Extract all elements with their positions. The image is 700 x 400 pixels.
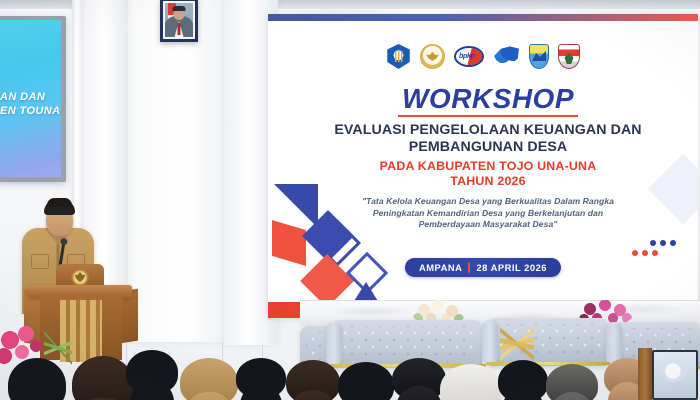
audience-head [498, 360, 548, 400]
audience-head [72, 356, 134, 400]
screen-text: AN DAN EN TOUNA [0, 90, 61, 118]
screen-text-line1: AN DAN [0, 90, 61, 104]
conference-photo-scene: AN DAN EN TOUNA [0, 0, 700, 400]
floor-monitor-screen [652, 350, 698, 400]
screen-text-line2: EN TOUNA [0, 104, 61, 118]
banner-quote: "Tata Kelola Keuangan Desa yang Berkuali… [296, 196, 680, 231]
decor-dot [642, 250, 648, 256]
decor-dot [632, 250, 638, 256]
led-screen-surface: AN DAN EN TOUNA [0, 20, 61, 177]
audience-head [236, 358, 286, 398]
framed-official-portrait [160, 0, 198, 42]
left-led-screen: AN DAN EN TOUNA [0, 16, 66, 182]
speaker-cap [47, 198, 72, 207]
banner-subtitle-line2: PEMBANGUNAN DESA [296, 139, 680, 156]
audience-head [546, 364, 598, 400]
portrait-cap [173, 6, 186, 11]
banner-headline-block: WORKSHOP EVALUASI PENGELOLAAN KEUANGAN D… [296, 84, 680, 231]
event-backdrop-banner: bpkp WORKSHOP EVALUASI PENGELOLAAN KEUAN… [268, 14, 698, 318]
banner-quote-line1: "Tata Kelola Keuangan Desa yang Berkuali… [296, 196, 680, 208]
banner-top-stripe [268, 14, 698, 21]
audience-foreground [0, 314, 700, 400]
event-date: 28 APRIL 2026 [476, 262, 547, 273]
banner-subtitle-line1: EVALUASI PENGELOLAAN KEUANGAN DAN [296, 122, 680, 139]
banner-quote-line2: Peningkatan Kemandirian Desa yang Berkel… [296, 208, 680, 220]
decor-dot [650, 240, 656, 246]
kemenkeu-logo [386, 44, 411, 69]
audience-head [286, 360, 340, 400]
wall-pilaster [128, 0, 224, 342]
banner-title: WORKSHOP [398, 84, 578, 117]
banner-highlight-line1: PADA KABUPATEN TOJO UNA-UNA [296, 159, 680, 174]
audience-head [180, 358, 238, 400]
banner-highlight-line2: TAHUN 2026 [296, 174, 680, 189]
audience-head [126, 350, 178, 394]
bpkp-logo: bpkp [454, 46, 484, 67]
garuda-dpr-logo [420, 44, 445, 69]
pill-divider [468, 262, 470, 273]
decor-dot [652, 250, 658, 256]
logo-row: bpkp [268, 44, 698, 69]
audience-head-with-cap [392, 358, 446, 400]
leaf-logo [493, 45, 520, 68]
event-date-pill: AMPANA 28 APRIL 2026 [405, 258, 561, 277]
decor-dot-row-navy [650, 240, 676, 246]
regional-shield-logo-b [558, 44, 580, 69]
banner-quote-line3: Pemberdayaan Masyarakat Desa" [296, 219, 680, 231]
audience-head-white-hijab [440, 364, 502, 400]
wooden-post [638, 348, 652, 400]
portrait-tie [178, 23, 181, 35]
decor-dot [670, 240, 676, 246]
regional-shield-logo-a [529, 44, 549, 69]
decor-dot-row-red [632, 250, 676, 256]
uniform-pocket [31, 254, 49, 269]
decor-dot [660, 240, 666, 246]
garuda-emblem-icon [72, 269, 89, 286]
audience-head [338, 362, 394, 400]
portrait-photo [165, 3, 193, 37]
event-location: AMPANA [419, 262, 462, 273]
decor-dot-cluster [650, 240, 676, 256]
portrait-mat [163, 1, 195, 39]
bpkp-wordmark: bpkp [459, 53, 475, 60]
